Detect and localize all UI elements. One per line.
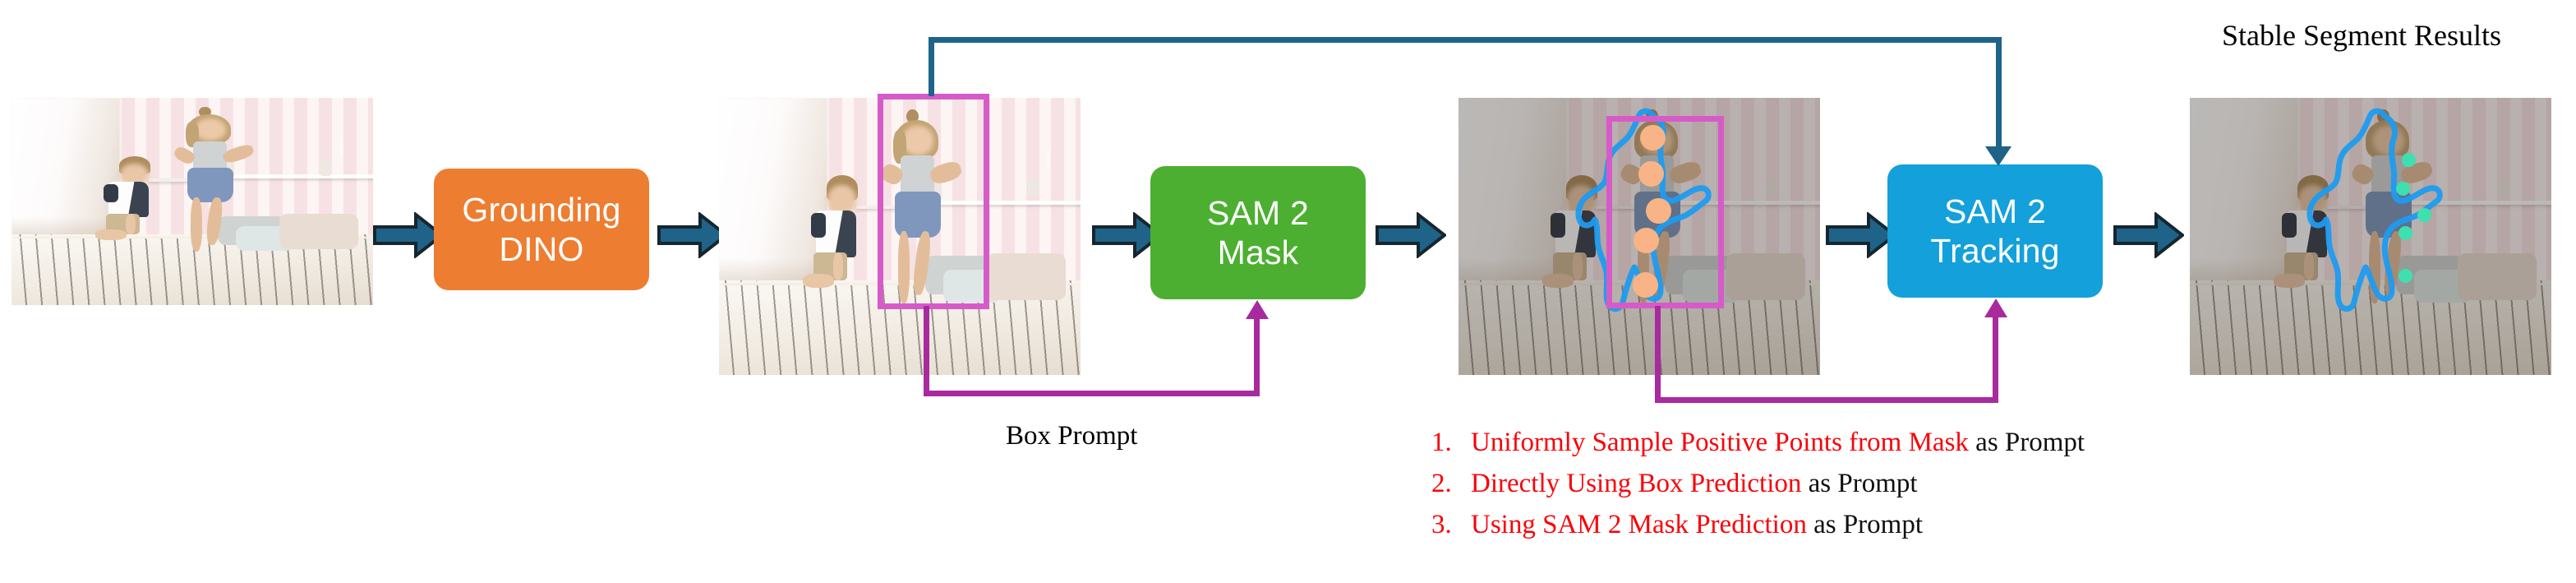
positive-point[interactable] [2417,208,2431,222]
box-prompt-arrowhead [1246,300,1269,319]
note-text: Directly Using Box Prediction as Prompt [1471,469,1918,499]
point-prompt-connector-down [1655,306,1661,403]
box-prompt-connector-across [924,391,1260,396]
boy-leg [803,274,834,288]
girl-leg-right [205,197,224,247]
stable-segment-results-title: Stable Segment Results [2222,18,2501,53]
girl [171,109,265,257]
box-prompt-connector-down [924,306,929,396]
note-text-black: as Prompt [1969,428,2085,457]
block-arrow-5 [1826,212,1896,258]
boy-sleeve [104,184,118,203]
sample-point[interactable] [1633,272,1658,298]
result-mask-contour [2190,98,2551,375]
input-photo [12,98,373,305]
boy [102,156,167,249]
point-prompt-connector-across [1655,397,1998,403]
block-arrow-6 [2113,212,2184,258]
teal-connector-across [929,37,2002,43]
sam2-tracking-box[interactable]: SAM 2 Tracking [1887,164,2103,298]
block-arrow-2 [657,212,728,258]
girl-leg-left [191,197,203,251]
sample-point[interactable] [1638,161,1664,187]
block-arrow-4 [1376,212,1446,258]
note-text-red: Using SAM 2 Mask Prediction [1471,510,1807,539]
positive-point[interactable] [2399,226,2412,240]
point-prompt-connector-up [1993,315,1998,403]
sample-point[interactable] [1646,198,1671,224]
teal-connector-up [929,37,934,96]
note-text: Uniformly Sample Positive Points from Ma… [1471,428,2085,458]
shelf-vase [319,158,332,176]
point-prompt-arrowhead [1984,298,2007,317]
note-number: 1. [1431,428,1452,458]
note-text-black: as Prompt [1807,510,1923,539]
note-text: Using SAM 2 Mask Prediction as Prompt [1471,510,1923,540]
diagram-canvas: Grounding DINO [0,0,2576,583]
note-text-black: as Prompt [1801,469,1917,498]
box-prompt-label: Box Prompt [1006,421,1137,451]
box-prompt-connector-up [1254,317,1260,396]
sample-point[interactable] [1640,125,1666,150]
detection-bounding-box[interactable] [878,94,989,309]
teal-connector-down [1996,37,2002,152]
teal-connector-arrowhead [1985,146,2011,166]
shelf-candle [340,137,343,155]
shelf-vase [1026,178,1039,197]
shelf-candle [1048,150,1050,169]
boy-arm [833,252,844,280]
sam2-mask-label: SAM 2 Mask [1207,193,1309,273]
sam2-tracking-label: SAM 2 Tracking [1930,192,2059,271]
pillow-blush [279,214,359,249]
positive-point[interactable] [2399,269,2412,283]
note-number: 2. [1431,469,1452,499]
input-frame[interactable] [12,98,373,305]
boy-arm [126,214,136,234]
note-text-red: Uniformly Sample Positive Points from Ma… [1471,428,1969,457]
boy-leg [95,229,127,239]
note-text-red: Directly Using Box Prediction [1471,469,1801,498]
pillow-blush [987,253,1067,300]
grounding-dino-box[interactable]: Grounding DINO [434,169,649,290]
grounding-dino-label: Grounding DINO [462,190,620,270]
sample-point[interactable] [1634,228,1659,253]
positive-point[interactable] [2396,182,2410,196]
sam2-mask-box[interactable]: SAM 2 Mask [1150,166,1366,299]
positive-point[interactable] [2402,153,2416,167]
boy [809,175,874,300]
note-number: 3. [1431,510,1452,540]
boy-sleeve [811,213,825,238]
